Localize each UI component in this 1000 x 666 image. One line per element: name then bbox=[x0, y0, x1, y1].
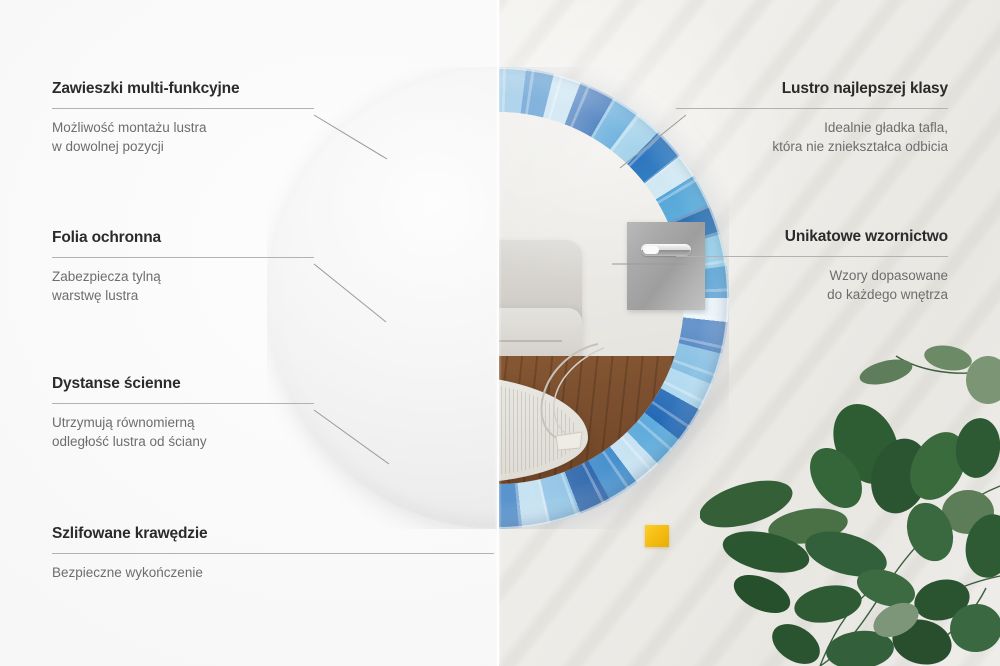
feature-title: Unikatowe wzornictwo bbox=[676, 228, 948, 247]
feature-title: Lustro najlepszej klasy bbox=[676, 80, 948, 99]
feature-callout-spacers: Dystanse ścienne Utrzymują równomierną o… bbox=[52, 375, 314, 451]
feature-callout-hangers: Zawieszki multi-funkcyjne Możliwość mont… bbox=[52, 80, 314, 156]
feature-rule bbox=[676, 256, 948, 257]
feature-callout-design: Unikatowe wzornictwo Wzory dopasowane do… bbox=[676, 228, 948, 304]
feature-rule bbox=[52, 257, 314, 258]
feature-rule bbox=[676, 108, 948, 109]
feature-callout-class: Lustro najlepszej klasy Idealnie gładka … bbox=[676, 80, 948, 156]
wall-spacer-icon bbox=[645, 525, 669, 547]
feature-rule bbox=[52, 553, 494, 554]
floor-lamp-icon bbox=[526, 340, 622, 460]
feature-callout-foil: Folia ochronna Zabezpiecza tylną warstwę… bbox=[52, 229, 314, 305]
feature-description: Bezpieczne wykończenie bbox=[52, 563, 352, 582]
feature-description: Zabezpiecza tylną warstwę lustra bbox=[52, 267, 314, 305]
feature-description: Możliwość montażu lustra w dowolnej pozy… bbox=[52, 118, 314, 156]
feature-title: Folia ochronna bbox=[52, 229, 314, 248]
feature-rule bbox=[52, 403, 314, 404]
feature-callout-edges: Szlifowane krawędzie Bezpieczne wykończe… bbox=[52, 525, 494, 582]
feature-title: Szlifowane krawędzie bbox=[52, 525, 494, 544]
panel-divider bbox=[497, 0, 499, 666]
feature-description: Idealnie gładka tafla, która nie znieksz… bbox=[676, 118, 948, 156]
feature-description: Utrzymują równomierną odległość lustra o… bbox=[52, 413, 314, 451]
feature-description: Wzory dopasowane do każdego wnętrza bbox=[676, 266, 948, 304]
feature-title: Dystanse ścienne bbox=[52, 375, 314, 394]
infographic-canvas: Zawieszki multi-funkcyjne Możliwość mont… bbox=[0, 0, 1000, 666]
feature-rule bbox=[52, 108, 314, 109]
feature-title: Zawieszki multi-funkcyjne bbox=[52, 80, 314, 99]
